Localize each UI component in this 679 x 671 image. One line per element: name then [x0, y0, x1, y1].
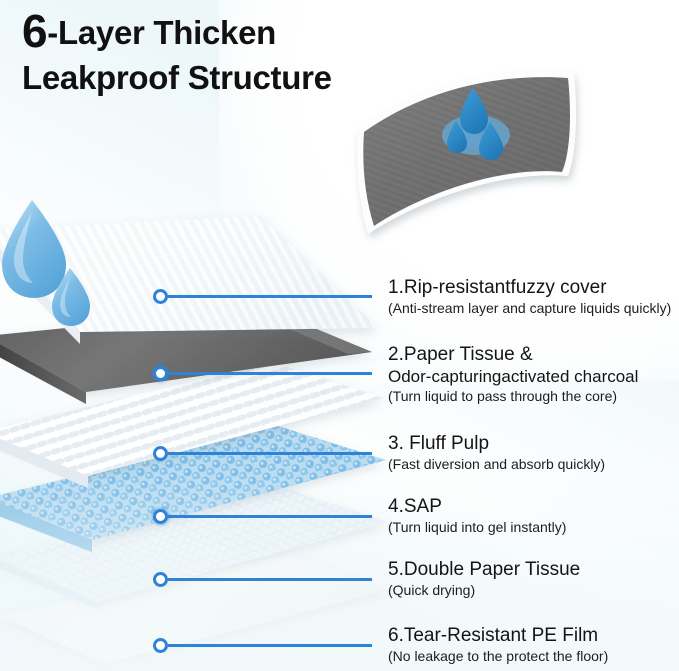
infographic-canvas: 6-Layer Thicken Leakproof Structure 1.Ri…	[0, 0, 679, 671]
layer-1-title: 1.Rip-resistantfuzzy cover	[388, 276, 671, 299]
layer-1-subtitle: (Anti-stream layer and capture liquids q…	[388, 299, 671, 317]
connector-dot-3	[153, 446, 168, 461]
layer-6-title: 6.Tear-Resistant PE Film	[388, 624, 608, 647]
layer-label-4: 4.SAP (Turn liquid into gel instantly)	[388, 495, 566, 536]
layer-2-title-second-line: Odor-capturingactivated charcoal	[388, 366, 638, 387]
connector-line-1	[168, 295, 372, 298]
layer-label-3: 3. Fluff Pulp (Fast diversion and absorb…	[388, 432, 605, 473]
water-droplet-large	[2, 200, 66, 298]
connector-dot-1	[153, 289, 168, 304]
layer-2-title: 2.Paper Tissue &	[388, 343, 638, 366]
connector-line-5	[168, 578, 372, 581]
layer-5-subtitle: (Quick drying)	[388, 581, 580, 599]
layer-label-5: 5.Double Paper Tissue (Quick drying)	[388, 558, 580, 599]
layer-4-subtitle: (Turn liquid into gel instantly)	[388, 518, 566, 536]
title-line2: Leakproof Structure	[22, 56, 442, 100]
title-line1-rest: -Layer Thicken	[47, 14, 276, 51]
layer-2-subtitle: (Turn liquid to pass through the core)	[388, 387, 638, 405]
page-title: 6-Layer Thicken Leakproof Structure	[22, 10, 442, 100]
title-number: 6	[22, 5, 47, 57]
connector-dot-5	[153, 572, 168, 587]
connector-line-2	[168, 372, 372, 375]
layer-5-title: 5.Double Paper Tissue	[388, 558, 580, 581]
connector-dot-4	[153, 509, 168, 524]
layer-label-2: 2.Paper Tissue & Odor-capturingactivated…	[388, 343, 638, 405]
connector-line-4	[168, 515, 372, 518]
layer-4-title: 4.SAP	[388, 495, 566, 518]
connector-dot-2	[153, 366, 168, 381]
layer-6-subtitle: (No leakage to the protect the floor)	[388, 647, 608, 665]
layer-3-subtitle: (Fast diversion and absorb quickly)	[388, 455, 605, 473]
layer-3-title: 3. Fluff Pulp	[388, 432, 605, 455]
layer-label-1: 1.Rip-resistantfuzzy cover (Anti-stream …	[388, 276, 671, 317]
connector-dot-6	[153, 638, 168, 653]
connector-line-6	[168, 644, 372, 647]
connector-line-3	[168, 452, 372, 455]
layer-label-6: 6.Tear-Resistant PE Film (No leakage to …	[388, 624, 608, 665]
